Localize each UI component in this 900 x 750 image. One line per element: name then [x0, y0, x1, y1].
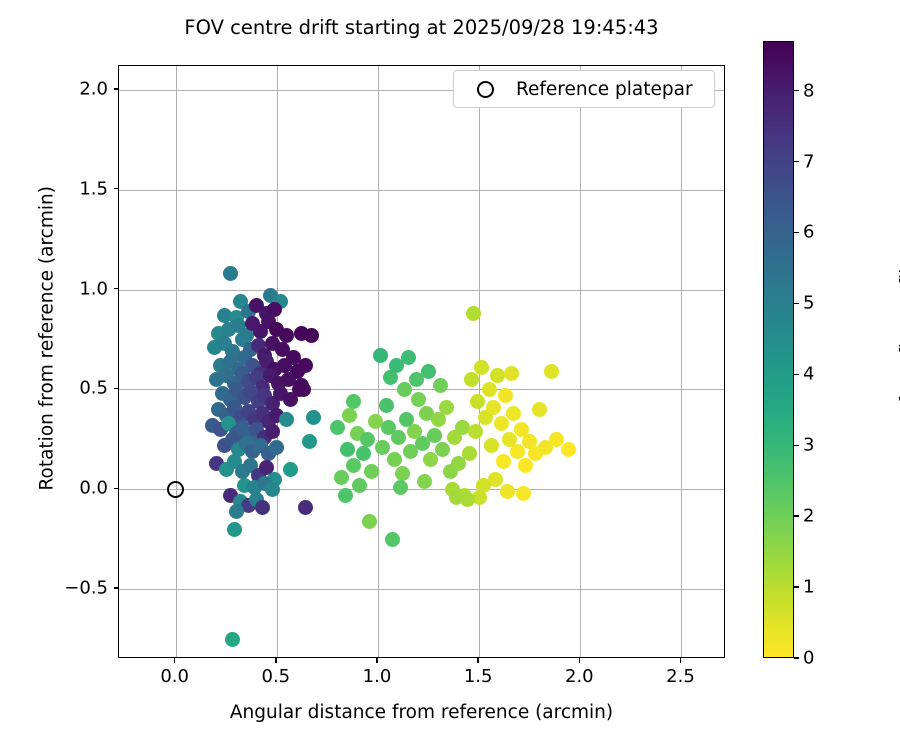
scatter-point: [360, 432, 375, 447]
scatter-point: [466, 306, 481, 321]
scatter-point: [223, 266, 238, 281]
scatter-point: [498, 388, 513, 403]
colorbar-tick-mark: [794, 586, 799, 587]
scatter-point: [411, 392, 426, 407]
scatter-point: [225, 632, 240, 647]
y-tick-label: 1.5: [13, 178, 108, 199]
y-tick-mark: [114, 587, 119, 588]
scatter-point: [352, 478, 367, 493]
scatter-point: [229, 504, 244, 519]
scatter-point: [395, 466, 410, 481]
gridline-vertical: [681, 66, 682, 657]
gridline-horizontal: [119, 489, 724, 490]
y-axis-label: Rotation from reference (arcmin): [37, 211, 58, 491]
colorbar-tick-mark: [794, 90, 799, 91]
scatter-point: [482, 382, 497, 397]
scatter-point: [292, 382, 307, 397]
x-tick-mark: [579, 658, 580, 663]
scatter-point: [279, 412, 294, 427]
x-tick-label: 2.5: [666, 666, 695, 687]
gridline-horizontal: [119, 389, 724, 390]
scatter-point: [506, 406, 521, 421]
page-title: FOV centre drift starting at 2025/09/28 …: [118, 16, 725, 39]
reference-platepar-marker[interactable]: [167, 481, 184, 498]
scatter-point: [516, 486, 531, 501]
colorbar-tick-label: 0: [803, 648, 814, 669]
scatter-point: [356, 446, 371, 461]
x-tick-mark: [477, 658, 478, 663]
colorbar-tick-label: 3: [803, 435, 814, 456]
gridline-horizontal: [119, 290, 724, 291]
y-tick-label: −0.5: [13, 578, 108, 599]
colorbar-tick-label: 5: [803, 293, 814, 314]
scatter-point: [417, 474, 432, 489]
plot-axes-area[interactable]: [118, 65, 725, 658]
colorbar-tick-mark: [794, 445, 799, 446]
scatter-point: [421, 364, 436, 379]
y-tick-label: 0.5: [13, 378, 108, 399]
scatter-point: [462, 446, 477, 461]
y-tick-mark: [114, 488, 119, 489]
colorbar-tick-label: 1: [803, 577, 814, 598]
scatter-point: [269, 440, 284, 455]
scatter-point: [265, 482, 280, 497]
colorbar-tick-label: 7: [803, 151, 814, 172]
legend-item-label: Reference platepar: [516, 79, 693, 100]
x-tick-label: 1.0: [363, 666, 392, 687]
colorbar-tick-label: 4: [803, 364, 814, 385]
colorbar-tick-mark: [794, 161, 799, 162]
scatter-point: [486, 400, 501, 415]
colorbar-tick-mark: [794, 657, 799, 658]
scatter-point: [401, 350, 416, 365]
scatter-point: [304, 328, 319, 343]
scatter-point: [496, 454, 511, 469]
scatter-point: [283, 462, 298, 477]
y-tick-mark: [114, 88, 119, 89]
scatter-point: [330, 420, 345, 435]
scatter-point: [393, 480, 408, 495]
scatter-point: [338, 488, 353, 503]
gridline-vertical: [580, 66, 581, 657]
scatter-point: [433, 378, 448, 393]
scatter-point: [427, 428, 442, 443]
y-tick-label: 1.0: [13, 278, 108, 299]
scatter-point: [373, 348, 388, 363]
scatter-point: [468, 424, 483, 439]
open-circle-icon: [477, 81, 494, 98]
scatter-point: [561, 442, 576, 457]
scatter-point: [334, 470, 349, 485]
scatter-point: [265, 424, 280, 439]
x-tick-mark: [376, 658, 377, 663]
colorbar-gradient: [763, 41, 794, 658]
scatter-point: [474, 360, 489, 375]
scatter-point: [504, 366, 519, 381]
scatter-point: [346, 394, 361, 409]
scatter-point: [298, 500, 313, 515]
scatter-point: [302, 434, 317, 449]
y-tick-mark: [114, 188, 119, 189]
scatter-point: [490, 368, 505, 383]
scatter-point: [306, 410, 321, 425]
scatter-point: [342, 408, 357, 423]
scatter-point: [397, 382, 412, 397]
gridline-horizontal: [119, 589, 724, 590]
colorbar-tick-mark: [794, 515, 799, 516]
y-tick-label: 2.0: [13, 78, 108, 99]
colorbar[interactable]: [763, 41, 794, 658]
scatter-point: [385, 532, 400, 547]
colorbar-tick-mark: [794, 303, 799, 304]
scatter-point: [375, 440, 390, 455]
x-tick-label: 0.5: [261, 666, 290, 687]
y-tick-mark: [114, 288, 119, 289]
colorbar-tick-label: 6: [803, 222, 814, 243]
scatter-point: [255, 500, 270, 515]
scatter-point: [340, 442, 355, 457]
scatter-point: [279, 328, 294, 343]
figure-canvas: FOV centre drift starting at 2025/09/28 …: [0, 0, 900, 750]
scatter-point: [298, 358, 313, 373]
y-tick-label: 0.0: [13, 478, 108, 499]
x-tick-mark: [275, 658, 276, 663]
colorbar-tick-label: 8: [803, 80, 814, 101]
scatter-point: [435, 442, 450, 457]
gridline-horizontal: [119, 190, 724, 191]
scatter-point: [387, 452, 402, 467]
x-tick-label: 1.5: [464, 666, 493, 687]
scatter-point: [532, 402, 547, 417]
scatter-point: [500, 484, 515, 499]
x-tick-mark: [174, 658, 175, 663]
scatter-point: [391, 430, 406, 445]
scatter-point: [544, 364, 559, 379]
gridline-vertical: [176, 66, 177, 657]
colorbar-tick-mark: [794, 374, 799, 375]
x-tick-label: 2.0: [565, 666, 594, 687]
scatter-point: [227, 522, 242, 537]
scatter-point: [362, 514, 377, 529]
scatter-point: [464, 372, 479, 387]
scatter-point: [379, 398, 394, 413]
legend[interactable]: Reference platepar: [453, 70, 715, 108]
x-tick-label: 0.0: [160, 666, 189, 687]
scatter-point: [470, 394, 485, 409]
scatter-point: [439, 400, 454, 415]
scatter-point: [484, 438, 499, 453]
colorbar-tick-label: 2: [803, 506, 814, 527]
colorbar-tick-mark: [794, 232, 799, 233]
y-tick-mark: [114, 388, 119, 389]
x-axis-label: Angular distance from reference (arcmin): [118, 702, 725, 723]
scatter-point: [460, 492, 475, 507]
legend-marker-wrap: [454, 81, 516, 98]
x-tick-mark: [680, 658, 681, 663]
